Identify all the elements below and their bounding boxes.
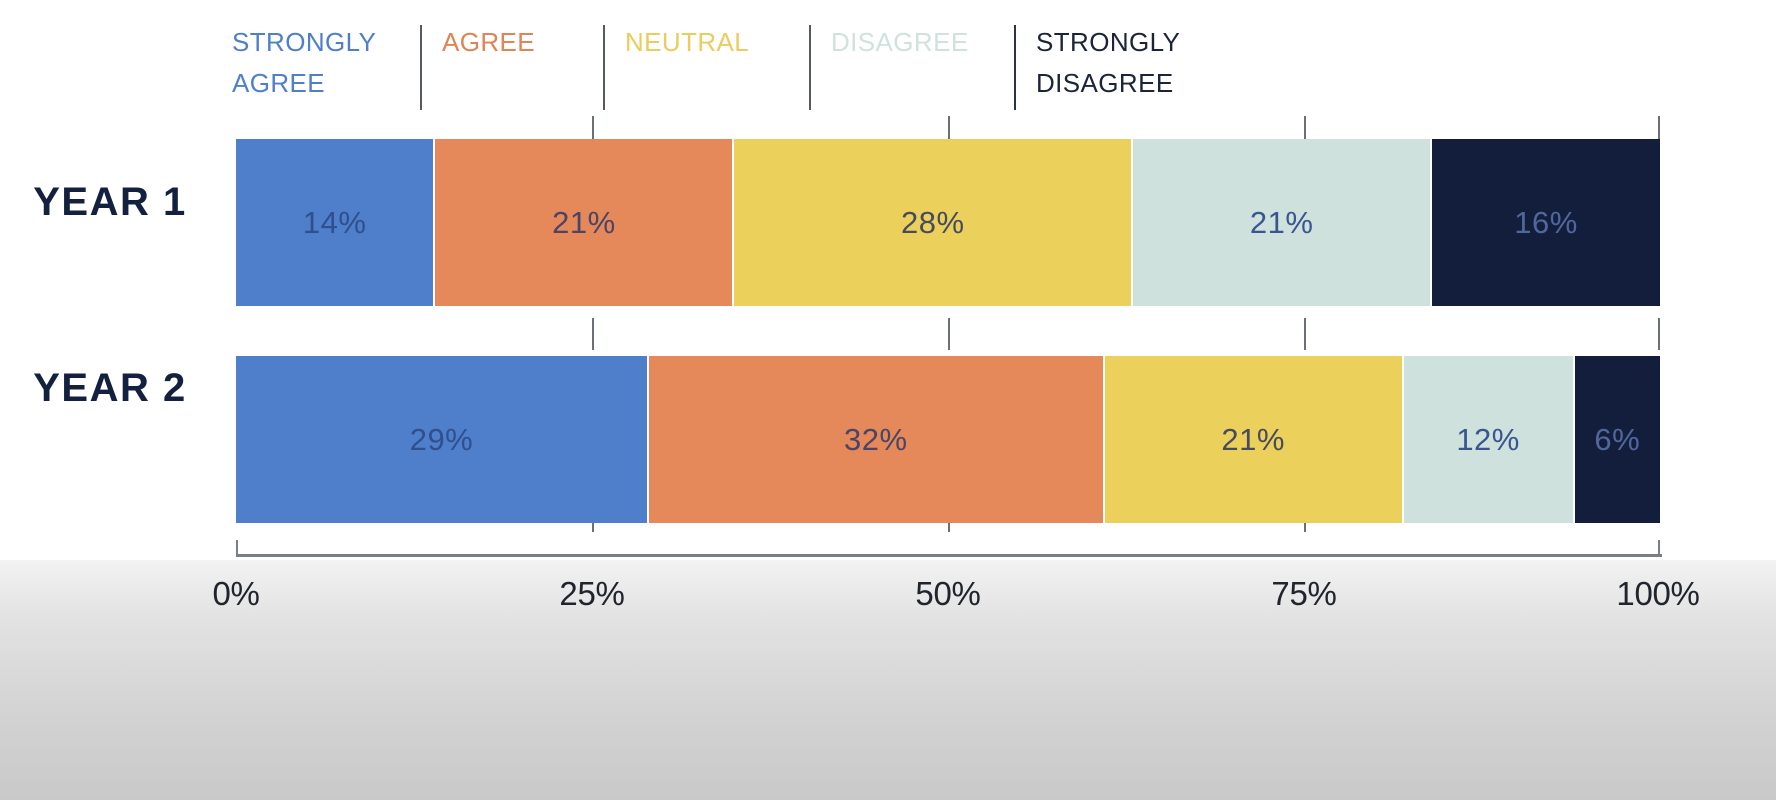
gridline-25-mid [592,318,594,350]
x-axis-line [236,554,1662,557]
segment-value: 12% [1456,422,1520,458]
x-tick-label-0: 0% [156,575,316,613]
segment-year1-strongly-disagree[interactable]: 16% [1432,139,1660,306]
segment-year1-neutral[interactable]: 28% [734,139,1133,306]
segment-year2-strongly-agree[interactable]: 29% [236,356,649,523]
segment-value: 6% [1594,422,1640,458]
x-tick-label-25: 25% [512,575,672,613]
legend-label-strongly-agree: STRONGLY AGREE [232,22,376,104]
legend-label-agree: AGREE [442,22,535,63]
legend-item-disagree[interactable]: DISAGREE [809,22,1014,110]
segment-value: 16% [1514,205,1578,241]
gridline-100-top [1658,116,1660,140]
gridline-100-mid [1658,318,1660,350]
segment-year1-strongly-agree[interactable]: 14% [236,139,435,306]
legend-label-disagree: DISAGREE [831,22,969,63]
legend-label-strongly-disagree: STRONGLY DISAGREE [1036,22,1180,104]
x-tick-label-100: 100% [1578,575,1738,613]
segment-value: 21% [1221,422,1285,458]
legend-item-neutral[interactable]: NEUTRAL [603,22,809,110]
x-axis-cap-right [1658,540,1660,557]
legend-item-agree[interactable]: AGREE [420,22,603,110]
segment-value: 21% [552,205,616,241]
segment-year1-agree[interactable]: 21% [435,139,734,306]
segment-value: 14% [303,205,367,241]
legend-item-strongly-agree[interactable]: STRONGLY AGREE [232,22,420,110]
x-tick-label-75: 75% [1224,575,1384,613]
gridline-50-top [948,116,950,140]
segment-year2-strongly-disagree[interactable]: 6% [1575,356,1660,523]
segment-value: 28% [901,205,965,241]
gridline-75-top [1304,116,1306,140]
legend-divider [1014,25,1016,110]
legend-divider [420,25,422,110]
legend-divider [809,25,811,110]
x-axis-cap-left [236,540,238,557]
segment-value: 29% [410,422,474,458]
bar-row-year-1: 14% 21% 28% 21% 16% [236,139,1660,306]
legend-item-strongly-disagree[interactable]: STRONGLY DISAGREE [1014,22,1274,110]
gridline-50-mid [948,318,950,350]
segment-year2-neutral[interactable]: 21% [1105,356,1404,523]
legend-divider [603,25,605,110]
chart-legend: STRONGLY AGREE AGREE NEUTRAL DISAGREE ST… [232,22,1274,110]
segment-year2-disagree[interactable]: 12% [1404,356,1575,523]
gridline-25-top [592,116,594,140]
category-label-year-1: YEAR 1 [0,180,220,225]
category-label-year-2: YEAR 2 [0,366,220,411]
x-tick-label-50: 50% [868,575,1028,613]
segment-year1-disagree[interactable]: 21% [1133,139,1432,306]
segment-value: 21% [1250,205,1314,241]
segment-year2-agree[interactable]: 32% [649,356,1105,523]
plot-area: 14% 21% 28% 21% 16% 29% 32% 21% 12% 6% [236,128,1660,530]
segment-value: 32% [844,422,908,458]
gridline-75-mid [1304,318,1306,350]
bar-row-year-2: 29% 32% 21% 12% 6% [236,356,1660,523]
legend-label-neutral: NEUTRAL [625,22,749,63]
